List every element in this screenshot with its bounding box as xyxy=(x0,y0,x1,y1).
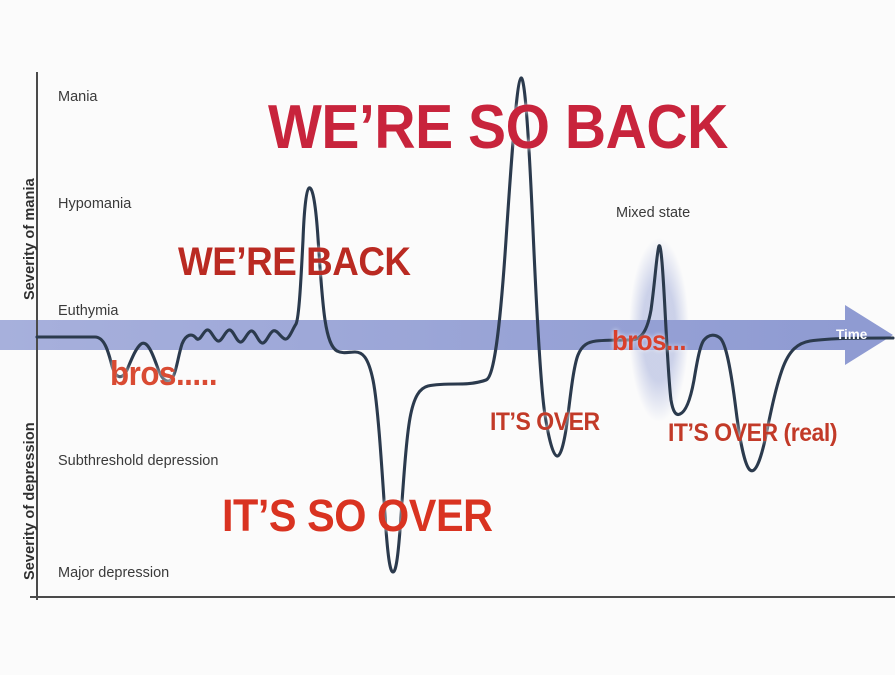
caption-bros-left: bros..... xyxy=(110,355,217,394)
caption-its-over-real: IT’S OVER (real) xyxy=(668,419,837,448)
caption-bros-right: bros... xyxy=(612,325,686,357)
y-axis-title-depression: Severity of depression xyxy=(22,422,38,580)
y-label-hypomania: Hypomania xyxy=(58,196,131,212)
caption-were-so-back: WE’RE SO BACK xyxy=(268,92,728,163)
caption-its-so-over: IT’S SO OVER xyxy=(222,490,493,542)
caption-its-over: IT’S OVER xyxy=(490,408,600,437)
meme-chart-canvas: Severity of mania Severity of depression… xyxy=(0,0,895,675)
x-axis-time-label: Time xyxy=(836,327,867,342)
y-axis-title-mania: Severity of mania xyxy=(22,178,38,300)
caption-were-back: WE’RE BACK xyxy=(178,240,411,285)
y-label-mania: Mania xyxy=(58,89,98,105)
y-label-subthreshold-depression: Subthreshold depression xyxy=(58,453,218,469)
mixed-state-annotation: Mixed state xyxy=(616,205,690,221)
y-label-major-depression: Major depression xyxy=(58,565,169,581)
y-label-euthymia: Euthymia xyxy=(58,303,118,319)
